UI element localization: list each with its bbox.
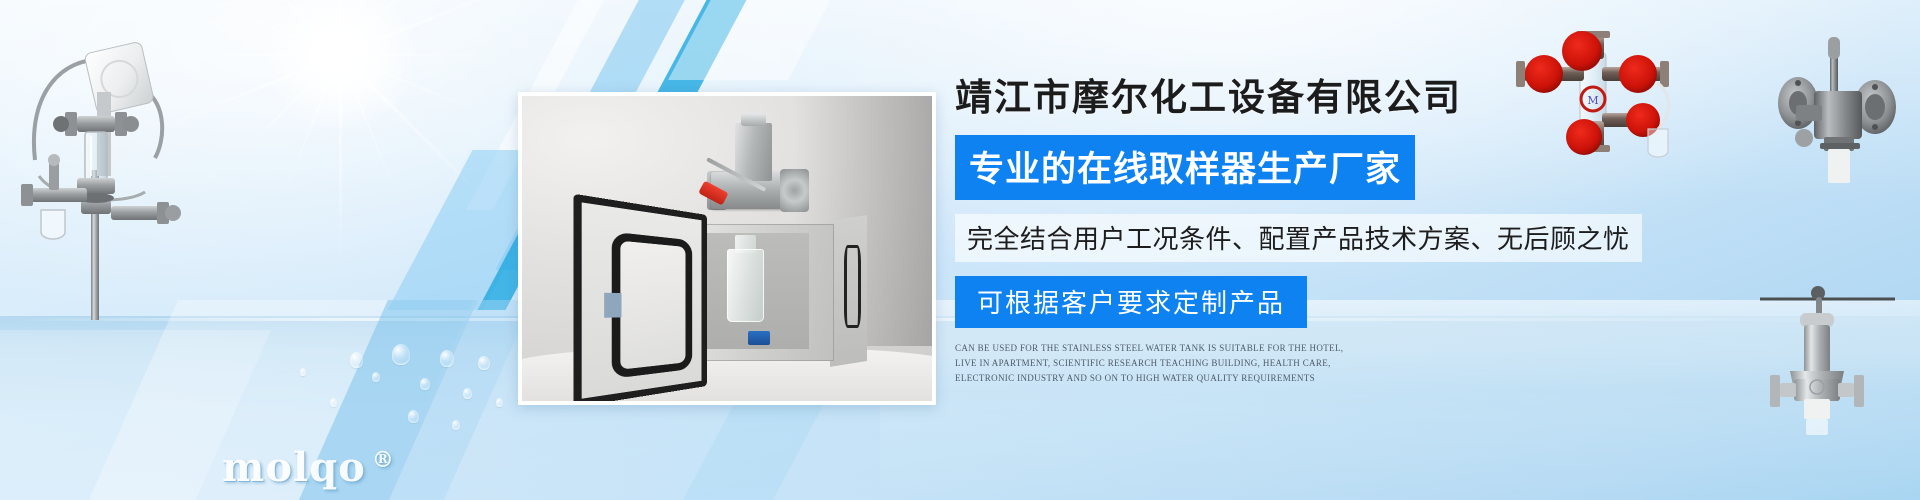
promo-banner: M (0, 0, 1920, 500)
secondary-headline: 完全结合用户工况条件、配置产品技术方案、无后顾之忧 (955, 214, 1642, 262)
valve-bonnet-stack (735, 123, 772, 181)
registered-trademark-icon: ® (372, 447, 395, 473)
product-left-sampler-assembly (5, 20, 185, 320)
blue-bottle-cap (748, 331, 771, 345)
cabinet-handle (844, 245, 861, 327)
sun-ray (339, 55, 342, 260)
sun-ray (340, 54, 490, 56)
sample-bottle (727, 249, 764, 322)
diagonal-ribbon (668, 0, 852, 80)
product-lever-sampling-valve (1762, 25, 1912, 200)
valve-flange-right (780, 169, 809, 212)
headline-text-block: 靖江市摩尔化工设备有限公司 专业的在线取样器生产厂家 完全结合用户工况条件、配置… (955, 78, 1715, 386)
cabinet-door (573, 194, 706, 405)
brand-watermark-text: molqo (222, 444, 366, 491)
company-name: 靖江市摩尔化工设备有限公司 (955, 78, 1715, 119)
cabinet-door-lock (604, 293, 621, 318)
sun-ray (190, 54, 340, 56)
brand-watermark: molqo® (222, 444, 395, 491)
sun-flare-icon (225, 0, 455, 170)
cta-custom-products[interactable]: 可根据客户要求定制产品 (955, 276, 1307, 328)
product-bottom-sampling-valve (1760, 275, 1910, 460)
product-photo-sampling-cabinet (518, 92, 936, 405)
valve-top-knob (741, 113, 766, 127)
english-fineprint: CAN BE USED FOR THE STAINLESS STEEL WATE… (955, 341, 1365, 386)
cabinet-door-window (612, 231, 692, 378)
primary-headline: 专业的在线取样器生产厂家 (955, 135, 1415, 200)
photo-background (522, 96, 932, 401)
